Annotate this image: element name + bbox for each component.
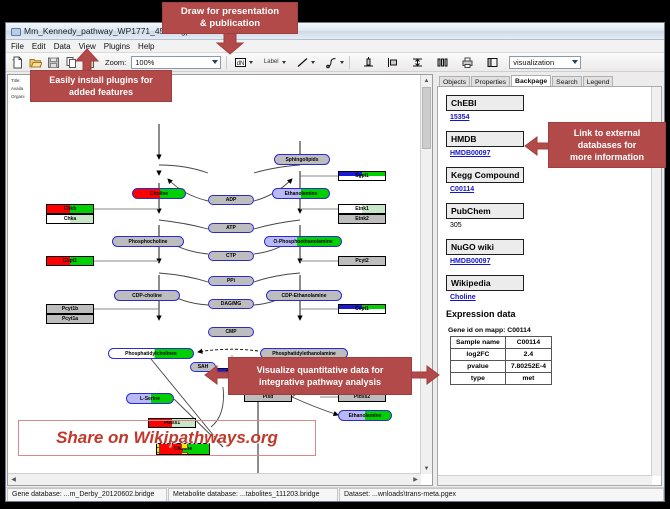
metabolite-node-adp[interactable]: ADP	[208, 195, 254, 205]
node-label: Ethanolamine	[285, 191, 318, 197]
node-label: Chka	[64, 216, 76, 222]
callout-link-arrow	[524, 136, 550, 156]
node-label: Etnk1	[355, 206, 369, 212]
interaction-group[interactable]	[323, 54, 344, 70]
node-label: DAG/MG	[221, 301, 242, 307]
menu-edit[interactable]: Edit	[32, 42, 46, 51]
section-heading-hmdb: HMDB	[446, 131, 524, 147]
node-label: Pcyt2	[355, 258, 368, 264]
callout-link: Link to external databases for more info…	[548, 122, 666, 168]
callout-visualize-line1: Visualize quantitative data for	[257, 364, 384, 376]
metabolite-node-cdp-ethanolamine[interactable]: CDP-Ethanolamine	[266, 290, 342, 301]
menu-file[interactable]: File	[11, 42, 24, 51]
metabolite-node-cmp[interactable]: CMP	[208, 327, 254, 337]
status-dataset: Dataset: ...wnloads\trans-meta.pgex	[339, 488, 664, 502]
callout-draw-arrow	[214, 33, 246, 55]
screenshot-root: Mm_Kennedy_pathway_WP1771_45176.gp... Fi…	[0, 0, 670, 509]
node-label: PPi	[227, 278, 235, 284]
canvas-label-title: Title:	[11, 78, 21, 83]
metabolite-node-sphingolipids[interactable]: Sphingolipids	[274, 154, 330, 165]
node-label: O-Phosphoethanolamine	[273, 239, 332, 245]
title-bar: Mm_Kennedy_pathway_WP1771_45176.gp...	[6, 23, 664, 40]
node-label: ADP	[226, 197, 237, 203]
cell-label-0: Sample name	[451, 337, 506, 349]
gene-id-line: Gene id on mapp: C00114	[448, 327, 652, 334]
node-label: CMP	[225, 329, 236, 335]
gene-node-cept1[interactable]: Cept1	[338, 304, 386, 314]
interaction-dropdown-icon[interactable]	[340, 61, 344, 64]
table-row: type met	[451, 373, 552, 385]
canvas-hscrollbar[interactable]: ◀ ▶	[8, 473, 421, 485]
pathvisio-icon	[10, 26, 20, 36]
section-heading-kegg: Kegg Compound	[446, 167, 524, 183]
scroll-down-icon[interactable]: ▼	[422, 464, 431, 473]
node-label: Etnk2	[355, 216, 369, 222]
metabolite-node-l-serine-left[interactable]: L-Serine	[126, 393, 174, 404]
cell-value-3: met	[505, 373, 551, 385]
table-row: log2FC 2.4	[451, 349, 552, 361]
toolbar-separator	[226, 56, 227, 69]
callout-link-line2: databases for	[578, 139, 637, 151]
gene-node-chpt1[interactable]: Chpt1	[46, 256, 94, 266]
metabolite-node-atp[interactable]: ATP	[208, 223, 254, 233]
gene-node-pcyt2[interactable]: Pcyt2	[338, 256, 386, 266]
line-icon[interactable]	[294, 54, 310, 70]
metabolite-node-ethanolamine-right[interactable]: Ethanolamine	[338, 410, 392, 421]
gene-node-pcyt1b[interactable]: Pcyt1b	[46, 304, 94, 314]
gene-node-chkb[interactable]: Chkb	[46, 204, 94, 214]
zoom-value: 100%	[135, 58, 154, 67]
metabolite-node-choline-top[interactable]: Choline	[132, 188, 186, 199]
gene-node-etnk2[interactable]: Etnk2	[338, 214, 386, 224]
align-bottom-icon[interactable]	[360, 54, 376, 70]
section-heading-pubchem: PubChem	[446, 203, 524, 219]
datanode-dropdown-icon[interactable]	[249, 61, 253, 64]
toolbar-separator-2	[349, 56, 350, 69]
gene-node-etnk1[interactable]: Etnk1	[338, 204, 386, 214]
cell-value-0: C00114	[505, 337, 551, 349]
status-metabolite-database: Metabolite database: ...tabolites_111203…	[168, 488, 338, 502]
status-bar: Gene database: ...m_Derby_20120602.bridg…	[6, 487, 664, 501]
link-kegg[interactable]: C00114	[450, 186, 652, 193]
cell-label-3: type	[451, 373, 506, 385]
chevron-down-icon	[212, 60, 218, 64]
share-callout: Share on Wikipathways.org	[18, 420, 316, 456]
tab-legend[interactable]: Legend	[583, 76, 614, 86]
callout-draw-line1: Draw for presentation	[181, 6, 279, 18]
canvas-label-organism: Organi	[11, 94, 25, 99]
link-wikipedia[interactable]: Choline	[450, 294, 652, 301]
canvas-vscrollbar[interactable]: ▲ ▼	[420, 75, 432, 474]
callout-visualize: Visualize quantitative data for integrat…	[228, 357, 412, 395]
callout-draw: Draw for presentation & publication	[162, 2, 298, 34]
callout-link-line1: Link to external	[574, 127, 641, 139]
node-label: Sphingolipids	[285, 157, 318, 163]
chevron-down-icon-2	[572, 60, 578, 64]
metabolite-node-ppi[interactable]: PPi	[208, 276, 254, 286]
sidebar-toggle-icon[interactable]	[484, 54, 500, 70]
canvas-label-available: Availa	[11, 86, 23, 91]
node-label: Cept1	[355, 306, 369, 312]
tab-properties[interactable]: Properties	[471, 76, 510, 86]
expression-data-title: Expression data	[446, 309, 652, 319]
line-dropdown-icon[interactable]	[311, 61, 315, 64]
gene-node-chka[interactable]: Chka	[46, 214, 94, 224]
cell-label-1: log2FC	[451, 349, 506, 361]
panel-hscrollbar[interactable]	[438, 475, 652, 485]
status-gene-database: Gene database: ...m_Derby_20120602.bridg…	[7, 488, 167, 502]
node-label: ATP	[226, 225, 236, 231]
node-label: Choline	[150, 191, 168, 197]
distribute-horizontal-icon[interactable]	[434, 54, 450, 70]
metabolite-node-dag-mg[interactable]: DAG/MG	[208, 299, 254, 309]
node-label: Phosphocholine	[129, 239, 168, 245]
node-label: Pcyt1a	[62, 316, 78, 322]
node-label: Phosphatidylethanolamine	[272, 351, 336, 357]
cell-value-2: 7.80252E-4	[505, 361, 551, 373]
node-label: Chpt1	[63, 258, 77, 264]
node-label: CDP-Ethanolamine	[281, 293, 326, 299]
callout-plugins: Easily install plugins for added feature…	[30, 70, 172, 102]
section-heading-wikipedia: Wikipedia	[446, 275, 524, 291]
datanode-icon[interactable]: dN	[232, 54, 248, 70]
align-left-icon[interactable]	[384, 54, 400, 70]
menu-help[interactable]: Help	[138, 42, 154, 51]
callout-visualize-line2: integrative pathway analysis	[259, 376, 381, 388]
line-group[interactable]	[294, 54, 315, 70]
gene-node-sgpl1[interactable]: Sgpl1	[338, 171, 386, 181]
open-icon[interactable]	[27, 54, 43, 70]
scroll-up-icon[interactable]: ▲	[422, 76, 431, 85]
scroll-right-icon[interactable]: ▶	[411, 475, 420, 484]
node-label: Phosphatidylcholines	[125, 351, 177, 357]
share-text: Share on Wikipathways.org	[56, 428, 278, 448]
canvas-vscroll-thumb[interactable]	[422, 87, 431, 149]
callout-link-line3: more information	[570, 151, 644, 163]
print-icon[interactable]	[459, 54, 475, 70]
callout-plugins-line1: Easily install plugins for	[49, 74, 153, 86]
metabolite-node-ctp[interactable]: CTP	[208, 251, 254, 261]
callout-plugins-line2: added features	[69, 86, 133, 98]
value-pubchem: 305	[450, 222, 652, 229]
svg-text:dN: dN	[236, 61, 244, 67]
visualization-value: visualization	[513, 58, 554, 67]
metabolite-node-o-phosphoethanolamine[interactable]: O-Phosphoethanolamine	[264, 236, 342, 247]
menu-bar: File Edit Data View Plugins Help	[6, 40, 664, 53]
node-label: Sgpl1	[355, 173, 369, 179]
callout-visualize-arrow-right	[410, 364, 440, 386]
menu-data[interactable]: Data	[54, 42, 71, 51]
gene-node-pcyt1a[interactable]: Pcyt1a	[46, 314, 94, 324]
metabolite-node-ethanolamine-top[interactable]: Ethanolamine	[272, 188, 330, 199]
label-group[interactable]: Label	[261, 54, 286, 70]
node-label: Chkb	[64, 206, 77, 212]
expression-table: Sample name C00114 log2FC 2.4 pvalue 7.8…	[450, 336, 552, 385]
node-label: L-Serine	[140, 396, 160, 402]
link-nugo[interactable]: HMDB00097	[450, 258, 652, 265]
visualization-combo[interactable]: visualization	[509, 56, 581, 69]
save-icon[interactable]	[45, 54, 61, 70]
menu-plugins[interactable]: Plugins	[104, 42, 130, 51]
node-label: Pcyt1b	[62, 306, 78, 312]
node-label: Ethanolamine	[349, 413, 382, 419]
metabolite-node-phosphocholine[interactable]: Phosphocholine	[112, 236, 184, 247]
label-dropdown-icon[interactable]	[282, 61, 286, 64]
zoom-combo[interactable]: 100%	[131, 56, 221, 69]
callout-plugins-arrow	[74, 48, 100, 72]
node-label: CDP-choline	[132, 293, 162, 299]
new-icon[interactable]	[9, 54, 25, 70]
zoom-label: Zoom:	[105, 58, 126, 67]
section-heading-nugo: NuGO wiki	[446, 239, 524, 255]
tab-objects[interactable]: Objects	[439, 76, 470, 86]
cell-value-1: 2.4	[505, 349, 551, 361]
datanode-group[interactable]: dN	[232, 54, 253, 70]
table-row: Sample name C00114	[451, 337, 552, 349]
metabolite-node-phosphatidylcholines[interactable]: Phosphatidylcholines	[108, 348, 194, 359]
tab-search[interactable]: Search	[552, 76, 582, 86]
section-heading-chebi: ChEBI	[446, 95, 524, 111]
link-chebi[interactable]: 15354	[450, 114, 652, 121]
metabolite-node-cdp-choline[interactable]: CDP-choline	[114, 290, 180, 301]
label-tool-label[interactable]: Label	[261, 54, 281, 70]
cell-label-2: pvalue	[451, 361, 506, 373]
interaction-icon[interactable]	[323, 54, 339, 70]
side-tabs: Objects Properties Backpage Search Legen…	[435, 74, 663, 86]
scroll-left-icon[interactable]: ◀	[9, 475, 18, 484]
node-label: CTP	[226, 253, 236, 259]
table-row: pvalue 7.80252E-4	[451, 361, 552, 373]
distribute-vertical-icon[interactable]	[409, 54, 425, 70]
callout-visualize-arrow	[204, 364, 230, 386]
callout-draw-line2: & publication	[200, 18, 260, 30]
